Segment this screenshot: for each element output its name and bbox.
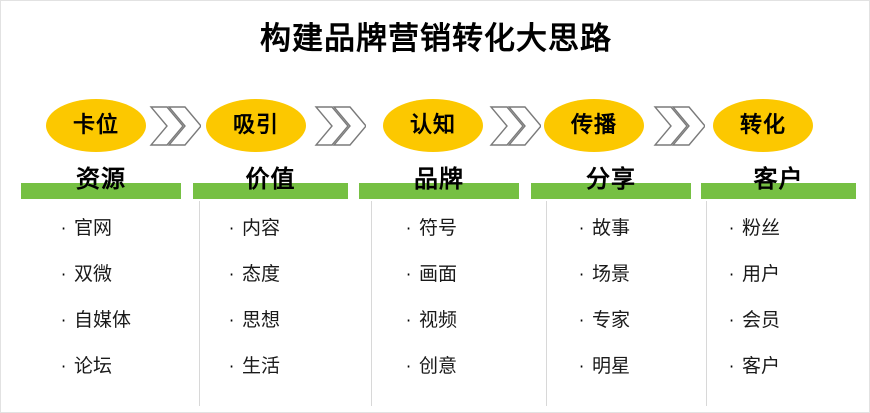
list-item-label: 创意 [419, 357, 457, 376]
column-items-2: · 内容 · 态度 · 思想 · 生活 [229, 219, 280, 403]
list-item[interactable]: · 符号 [406, 219, 457, 265]
stage-row: 卡位 吸引 认知 [1, 99, 870, 153]
list-item[interactable]: · 粉丝 [729, 219, 780, 265]
list-item-label: 粉丝 [742, 219, 780, 238]
column-heading-2: 价值 [193, 164, 348, 194]
stage-ellipse[interactable]: 卡位 [46, 99, 146, 152]
column-divider-2 [371, 201, 372, 406]
column-items-4: · 故事 · 场景 · 专家 · 明星 [579, 219, 630, 403]
list-item-label: 态度 [242, 265, 280, 284]
list-item[interactable]: · 官网 [61, 219, 131, 265]
stage-label: 传播 [571, 115, 617, 137]
stage-3[interactable]: 认知 [383, 99, 483, 153]
bullet-dot-icon: · [729, 359, 742, 375]
diagram-canvas: 构建品牌营销转化大思路 卡位 吸引 认知 [0, 0, 870, 413]
bullet-dot-icon: · [61, 359, 74, 375]
list-item[interactable]: · 内容 [229, 219, 280, 265]
list-item[interactable]: · 画面 [406, 265, 457, 311]
bullet-dot-icon: · [406, 313, 419, 329]
list-item-label: 视频 [419, 311, 457, 330]
list-item[interactable]: · 论坛 [61, 357, 131, 403]
bullet-dot-icon: · [229, 267, 242, 283]
column-heading-3: 品牌 [359, 164, 519, 194]
column-heading-4: 分享 [531, 164, 691, 194]
list-item[interactable]: · 创意 [406, 357, 457, 403]
list-item[interactable]: · 客户 [729, 357, 780, 403]
bullet-dot-icon: · [729, 313, 742, 329]
list-item[interactable]: · 思想 [229, 311, 280, 357]
double-chevron-2-icon [314, 104, 366, 148]
list-item-label: 官网 [74, 219, 112, 238]
stage-label: 卡位 [73, 115, 119, 137]
list-item-label: 符号 [419, 219, 457, 238]
list-item[interactable]: · 态度 [229, 265, 280, 311]
list-item-label: 故事 [592, 219, 630, 238]
list-item-label: 明星 [592, 357, 630, 376]
stage-ellipse[interactable]: 转化 [713, 99, 813, 152]
column-divider-3 [546, 201, 547, 406]
list-item-label: 会员 [742, 311, 780, 330]
bullet-dot-icon: · [406, 267, 419, 283]
stage-ellipse[interactable]: 传播 [544, 99, 644, 152]
bullet-dot-icon: · [61, 221, 74, 237]
bullet-dot-icon: · [729, 267, 742, 283]
list-item-label: 专家 [592, 311, 630, 330]
stage-ellipse[interactable]: 认知 [383, 99, 483, 152]
list-item-label: 双微 [74, 265, 112, 284]
column-heading-5: 客户 [701, 164, 856, 194]
column-items-5: · 粉丝 · 用户 · 会员 · 客户 [729, 219, 780, 403]
bullet-dot-icon: · [61, 267, 74, 283]
column-heading-1: 资源 [21, 164, 181, 194]
list-item[interactable]: · 会员 [729, 311, 780, 357]
bullet-dot-icon: · [406, 359, 419, 375]
list-item-label: 论坛 [74, 357, 112, 376]
bullet-dot-icon: · [579, 221, 592, 237]
list-item-label: 自媒体 [74, 311, 131, 330]
double-chevron-4-icon [653, 104, 705, 148]
stage-4[interactable]: 传播 [544, 99, 644, 153]
list-item-label: 画面 [419, 265, 457, 284]
list-item[interactable]: · 故事 [579, 219, 630, 265]
list-item[interactable]: · 生活 [229, 357, 280, 403]
list-item-label: 内容 [242, 219, 280, 238]
stage-1[interactable]: 卡位 [46, 99, 146, 153]
column-divider-4 [706, 201, 707, 406]
stage-5[interactable]: 转化 [713, 99, 813, 153]
stage-ellipse[interactable]: 吸引 [206, 99, 306, 152]
list-item-label: 客户 [742, 357, 780, 376]
bullet-dot-icon: · [406, 221, 419, 237]
stage-2[interactable]: 吸引 [206, 99, 306, 153]
bullet-dot-icon: · [729, 221, 742, 237]
list-item[interactable]: · 明星 [579, 357, 630, 403]
list-item-label: 用户 [742, 265, 780, 284]
double-chevron-3-icon [489, 104, 541, 148]
list-item[interactable]: · 自媒体 [61, 311, 131, 357]
double-chevron-1-icon [149, 104, 201, 148]
stage-label: 转化 [740, 115, 786, 137]
bullet-dot-icon: · [61, 313, 74, 329]
list-item[interactable]: · 用户 [729, 265, 780, 311]
page-title: 构建品牌营销转化大思路 [1, 13, 870, 58]
list-item[interactable]: · 双微 [61, 265, 131, 311]
column-divider-1 [199, 201, 200, 406]
stage-label: 吸引 [233, 115, 279, 137]
column-items-3: · 符号 · 画面 · 视频 · 创意 [406, 219, 457, 403]
bullet-dot-icon: · [579, 267, 592, 283]
bullet-dot-icon: · [229, 359, 242, 375]
stage-label: 认知 [410, 115, 456, 137]
bullet-dot-icon: · [229, 313, 242, 329]
bullet-dot-icon: · [229, 221, 242, 237]
list-item-label: 生活 [242, 357, 280, 376]
list-item[interactable]: · 视频 [406, 311, 457, 357]
list-item[interactable]: · 场景 [579, 265, 630, 311]
column-items-1: · 官网 · 双微 · 自媒体 · 论坛 [61, 219, 131, 403]
list-item-label: 场景 [592, 265, 630, 284]
list-item-label: 思想 [242, 311, 280, 330]
bullet-dot-icon: · [579, 313, 592, 329]
list-item[interactable]: · 专家 [579, 311, 630, 357]
bullet-dot-icon: · [579, 359, 592, 375]
